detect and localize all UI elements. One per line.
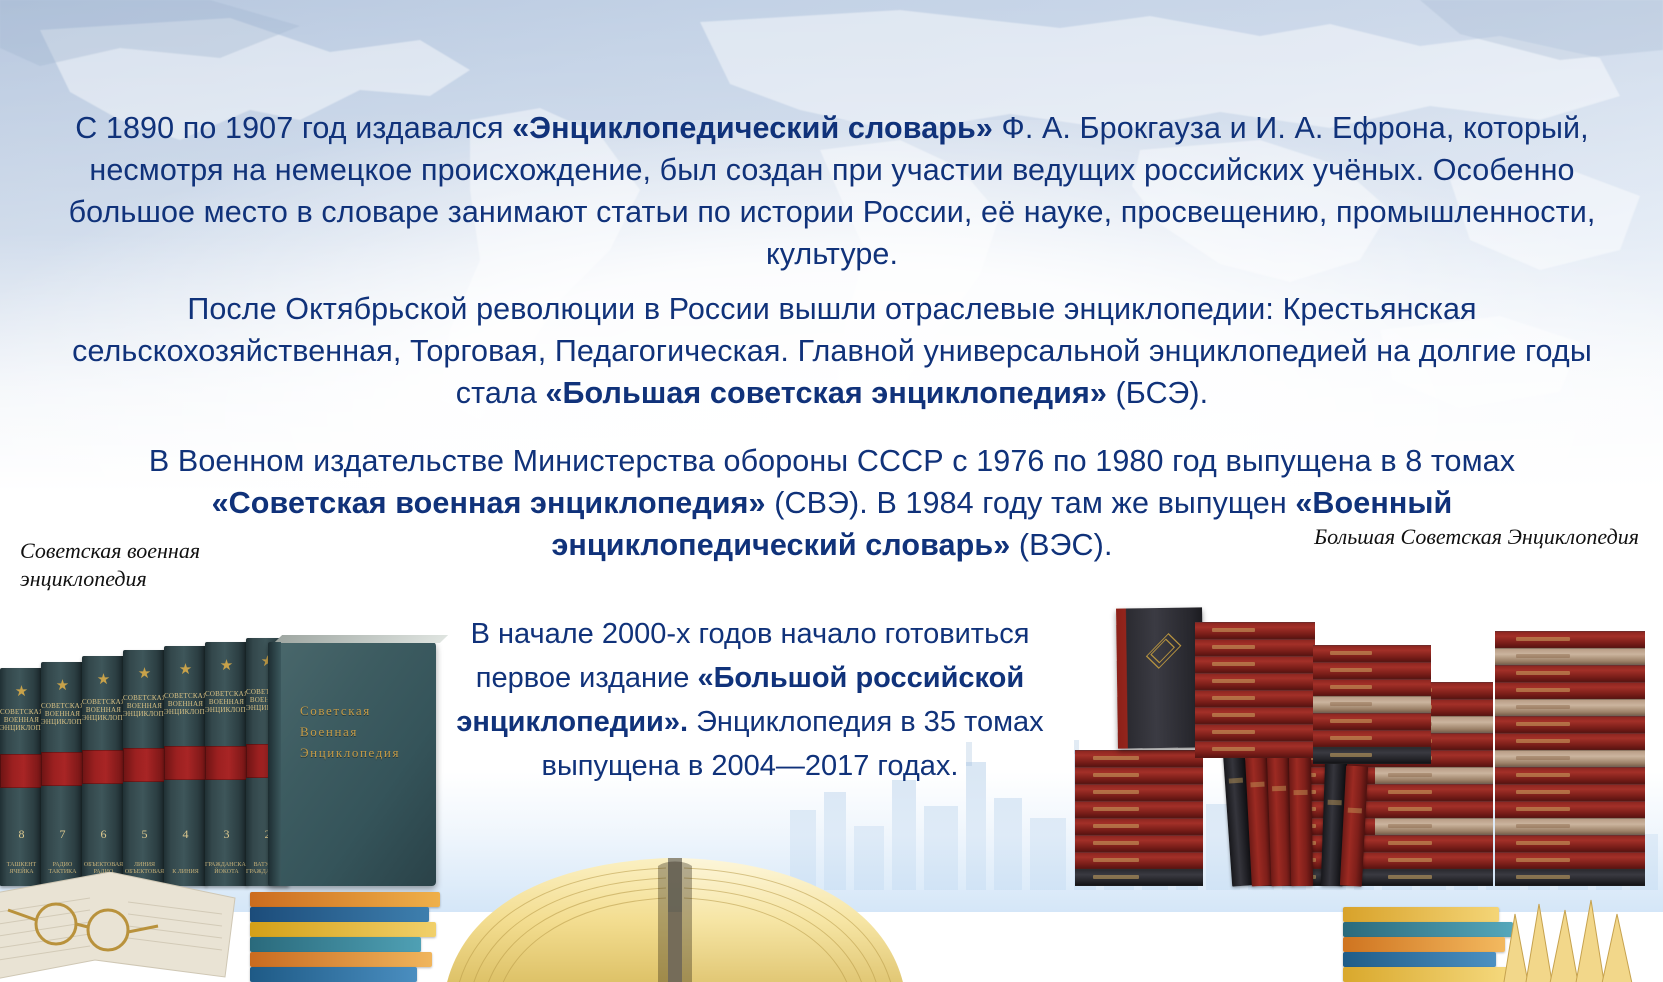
stacked-book bbox=[1495, 852, 1645, 869]
small-book bbox=[1343, 967, 1510, 982]
book-cover-soviet-military-encyclopedia: Советская Военная Энциклопедия bbox=[268, 642, 436, 886]
small-book-stack-left bbox=[250, 892, 440, 982]
volume-spine-5: ★ СОВЕТСКАЯ ВОЕННАЯ ЭНЦИКЛОПЕДИЯ 5 ЛИНИЯ… bbox=[123, 650, 166, 886]
stacked-book bbox=[1371, 852, 1493, 869]
book-stack-far-right bbox=[1495, 631, 1645, 886]
volume-number: 4 bbox=[164, 827, 207, 842]
small-book bbox=[250, 907, 429, 922]
stacked-book bbox=[1495, 835, 1645, 852]
volume-red-band bbox=[41, 752, 84, 786]
book-stack-upper bbox=[1195, 622, 1315, 758]
book-cover-title: Советская Военная Энциклопедия bbox=[300, 700, 400, 763]
stacked-book bbox=[1195, 724, 1315, 741]
volume-number: 7 bbox=[41, 827, 84, 842]
volume-red-band bbox=[164, 746, 207, 780]
volume-red-band bbox=[205, 746, 248, 780]
p1-text-bold: «Энциклопедический словарь» bbox=[512, 111, 993, 145]
stacked-book bbox=[1495, 784, 1645, 801]
p3-text-middle: (СВЭ). В 1984 году там же выпущен bbox=[766, 486, 1296, 520]
stacked-book bbox=[1313, 696, 1431, 713]
star-icon: ★ bbox=[179, 662, 192, 677]
fanned-pages-illustration bbox=[1493, 896, 1643, 982]
stacked-book bbox=[1495, 733, 1645, 750]
stacked-book bbox=[1195, 656, 1315, 673]
small-book bbox=[250, 892, 440, 907]
stacked-book bbox=[1075, 784, 1203, 801]
stacked-book bbox=[1313, 713, 1431, 730]
volume-spine-text: СОВЕТСКАЯ ВОЕННАЯ ЭНЦИКЛОПЕДИЯ bbox=[41, 702, 84, 726]
caption-great-soviet-encyclopedia: Большая Советская Энциклопедия bbox=[1309, 523, 1639, 551]
stacked-book bbox=[1195, 741, 1315, 758]
stacked-book bbox=[1371, 818, 1493, 835]
stacked-book bbox=[1495, 767, 1645, 784]
volume-spine-8: ★ СОВЕТСКАЯ ВОЕННАЯ ЭНЦИКЛОПЕДИЯ 8 ТАШКЕ… bbox=[0, 668, 43, 886]
volume-spine-text: СОВЕТСКАЯ ВОЕННАЯ ЭНЦИКЛОПЕДИЯ bbox=[205, 690, 248, 714]
small-book-stack-right bbox=[1343, 907, 1513, 982]
stacked-book bbox=[1371, 784, 1493, 801]
stacked-book bbox=[1075, 852, 1203, 869]
caption-soviet-military-encyclopedia: Советская военная энциклопедия bbox=[20, 537, 310, 593]
standing-book-cover-bse bbox=[1116, 607, 1204, 748]
stacked-book bbox=[1495, 869, 1645, 886]
stacked-book bbox=[1495, 750, 1645, 767]
star-icon: ★ bbox=[56, 678, 69, 693]
stacked-book bbox=[1495, 682, 1645, 699]
presentation-slide: С 1890 по 1907 год издавался «Энциклопед… bbox=[0, 0, 1663, 982]
book-top-edge bbox=[274, 635, 448, 643]
leaning-book bbox=[1289, 748, 1313, 886]
small-book bbox=[1343, 952, 1496, 967]
photo-soviet-military-encyclopedia-volumes: ★ СОВЕТСКАЯ ВОЕННАЯ ЭНЦИКЛОПЕДИЯ 8 ТАШКЕ… bbox=[0, 618, 446, 886]
volume-spine-4: ★ СОВЕТСКАЯ ВОЕННАЯ ЭНЦИКЛОПЕДИЯ 4 К ЛИН… bbox=[164, 646, 207, 886]
star-icon: ★ bbox=[220, 658, 233, 673]
stacked-book bbox=[1495, 699, 1645, 716]
stacked-book bbox=[1075, 818, 1203, 835]
p3-text-bold-1: «Советская военная энциклопедия» bbox=[212, 486, 766, 520]
stacked-book bbox=[1371, 835, 1493, 852]
stacked-book bbox=[1195, 690, 1315, 707]
star-icon: ★ bbox=[138, 666, 151, 681]
stacked-book bbox=[1371, 801, 1493, 818]
volume-spine-text: СОВЕТСКАЯ ВОЕННАЯ ЭНЦИКЛОПЕДИЯ bbox=[164, 692, 207, 716]
stacked-book bbox=[1495, 648, 1645, 665]
book-stack-left bbox=[1075, 750, 1203, 886]
stacked-book bbox=[1495, 631, 1645, 648]
stacked-book bbox=[1371, 767, 1493, 784]
small-book bbox=[250, 937, 421, 952]
stacked-book bbox=[1075, 750, 1203, 767]
p2-text-bold: «Большая советская энциклопедия» bbox=[545, 376, 1107, 410]
stacked-book bbox=[1075, 869, 1203, 886]
volume-spine-text: СОВЕТСКАЯ ВОЕННАЯ ЭНЦИКЛОПЕДИЯ bbox=[123, 694, 166, 718]
stacked-book bbox=[1313, 662, 1431, 679]
paragraph-brockhaus-efron: С 1890 по 1907 год издавался «Энциклопед… bbox=[62, 107, 1602, 275]
stacked-book bbox=[1195, 639, 1315, 656]
volume-number: 6 bbox=[82, 827, 125, 842]
small-book bbox=[250, 952, 432, 967]
small-book bbox=[1343, 922, 1513, 937]
volume-spine-6: ★ СОВЕТСКАЯ ВОЕННАЯ ЭНЦИКЛОПЕДИЯ 6 ОБЪЕК… bbox=[82, 656, 125, 886]
stacked-book bbox=[1195, 673, 1315, 690]
stacked-book bbox=[1075, 801, 1203, 818]
stacked-book bbox=[1195, 707, 1315, 724]
stacked-book bbox=[1313, 645, 1431, 662]
stacked-book bbox=[1195, 622, 1315, 639]
star-icon: ★ bbox=[15, 684, 28, 699]
volume-number: 5 bbox=[123, 827, 166, 842]
paragraph-great-russian-encyclopedia: В начале 2000-х годов начало готовиться … bbox=[440, 612, 1060, 788]
small-book bbox=[250, 922, 436, 937]
volume-red-band bbox=[82, 750, 125, 784]
small-book bbox=[1343, 907, 1499, 922]
cover-line-2: Военная bbox=[300, 721, 400, 742]
volume-number: 3 bbox=[205, 827, 248, 842]
volume-spine-7: ★ СОВЕТСКАЯ ВОЕННАЯ ЭНЦИКЛОПЕДИЯ 7 РАДИО… bbox=[41, 662, 84, 886]
cover-line-3: Энциклопедия bbox=[300, 742, 400, 763]
open-book-illustration bbox=[440, 848, 910, 982]
stacked-book bbox=[1313, 730, 1431, 747]
stacked-book bbox=[1495, 801, 1645, 818]
stacked-book bbox=[1313, 679, 1431, 696]
open-page-with-glasses-illustration bbox=[0, 872, 255, 982]
volume-spine-3: ★ СОВЕТСКАЯ ВОЕННАЯ ЭНЦИКЛОПЕДИЯ 3 ГРАЖД… bbox=[205, 642, 248, 886]
p2-text-after: (БСЭ). bbox=[1107, 376, 1208, 410]
p3-text-after: (ВЭС). bbox=[1010, 528, 1112, 562]
photo-great-soviet-encyclopedia-volumes bbox=[1045, 586, 1645, 886]
paragraph-soviet-encyclopedias: После Октябрьской революции в России выш… bbox=[62, 288, 1602, 414]
stacked-book bbox=[1313, 747, 1431, 764]
stacked-book bbox=[1371, 869, 1493, 886]
stacked-book bbox=[1075, 767, 1203, 784]
small-book bbox=[1343, 937, 1505, 952]
book-spine bbox=[268, 642, 281, 886]
p3-text-before: В Военном издательстве Министерства обор… bbox=[149, 444, 1515, 478]
stacked-book bbox=[1495, 665, 1645, 682]
volume-spine-text: СОВЕТСКАЯ ВОЕННАЯ ЭНЦИКЛОПЕДИЯ bbox=[82, 698, 125, 722]
stacked-book bbox=[1075, 835, 1203, 852]
volume-red-band bbox=[123, 748, 166, 782]
stacked-book bbox=[1495, 818, 1645, 835]
p1-text-before: С 1890 по 1907 год издавался bbox=[75, 111, 512, 145]
cover-line-1: Советская bbox=[300, 700, 400, 721]
star-icon: ★ bbox=[97, 672, 110, 687]
book-stack-upper-right bbox=[1313, 645, 1431, 764]
small-book bbox=[250, 967, 417, 982]
volume-spine-text: СОВЕТСКАЯ ВОЕННАЯ ЭНЦИКЛОПЕДИЯ bbox=[0, 708, 43, 732]
volume-number: 8 bbox=[0, 827, 43, 842]
stacked-book bbox=[1495, 716, 1645, 733]
volume-red-band bbox=[0, 754, 43, 788]
